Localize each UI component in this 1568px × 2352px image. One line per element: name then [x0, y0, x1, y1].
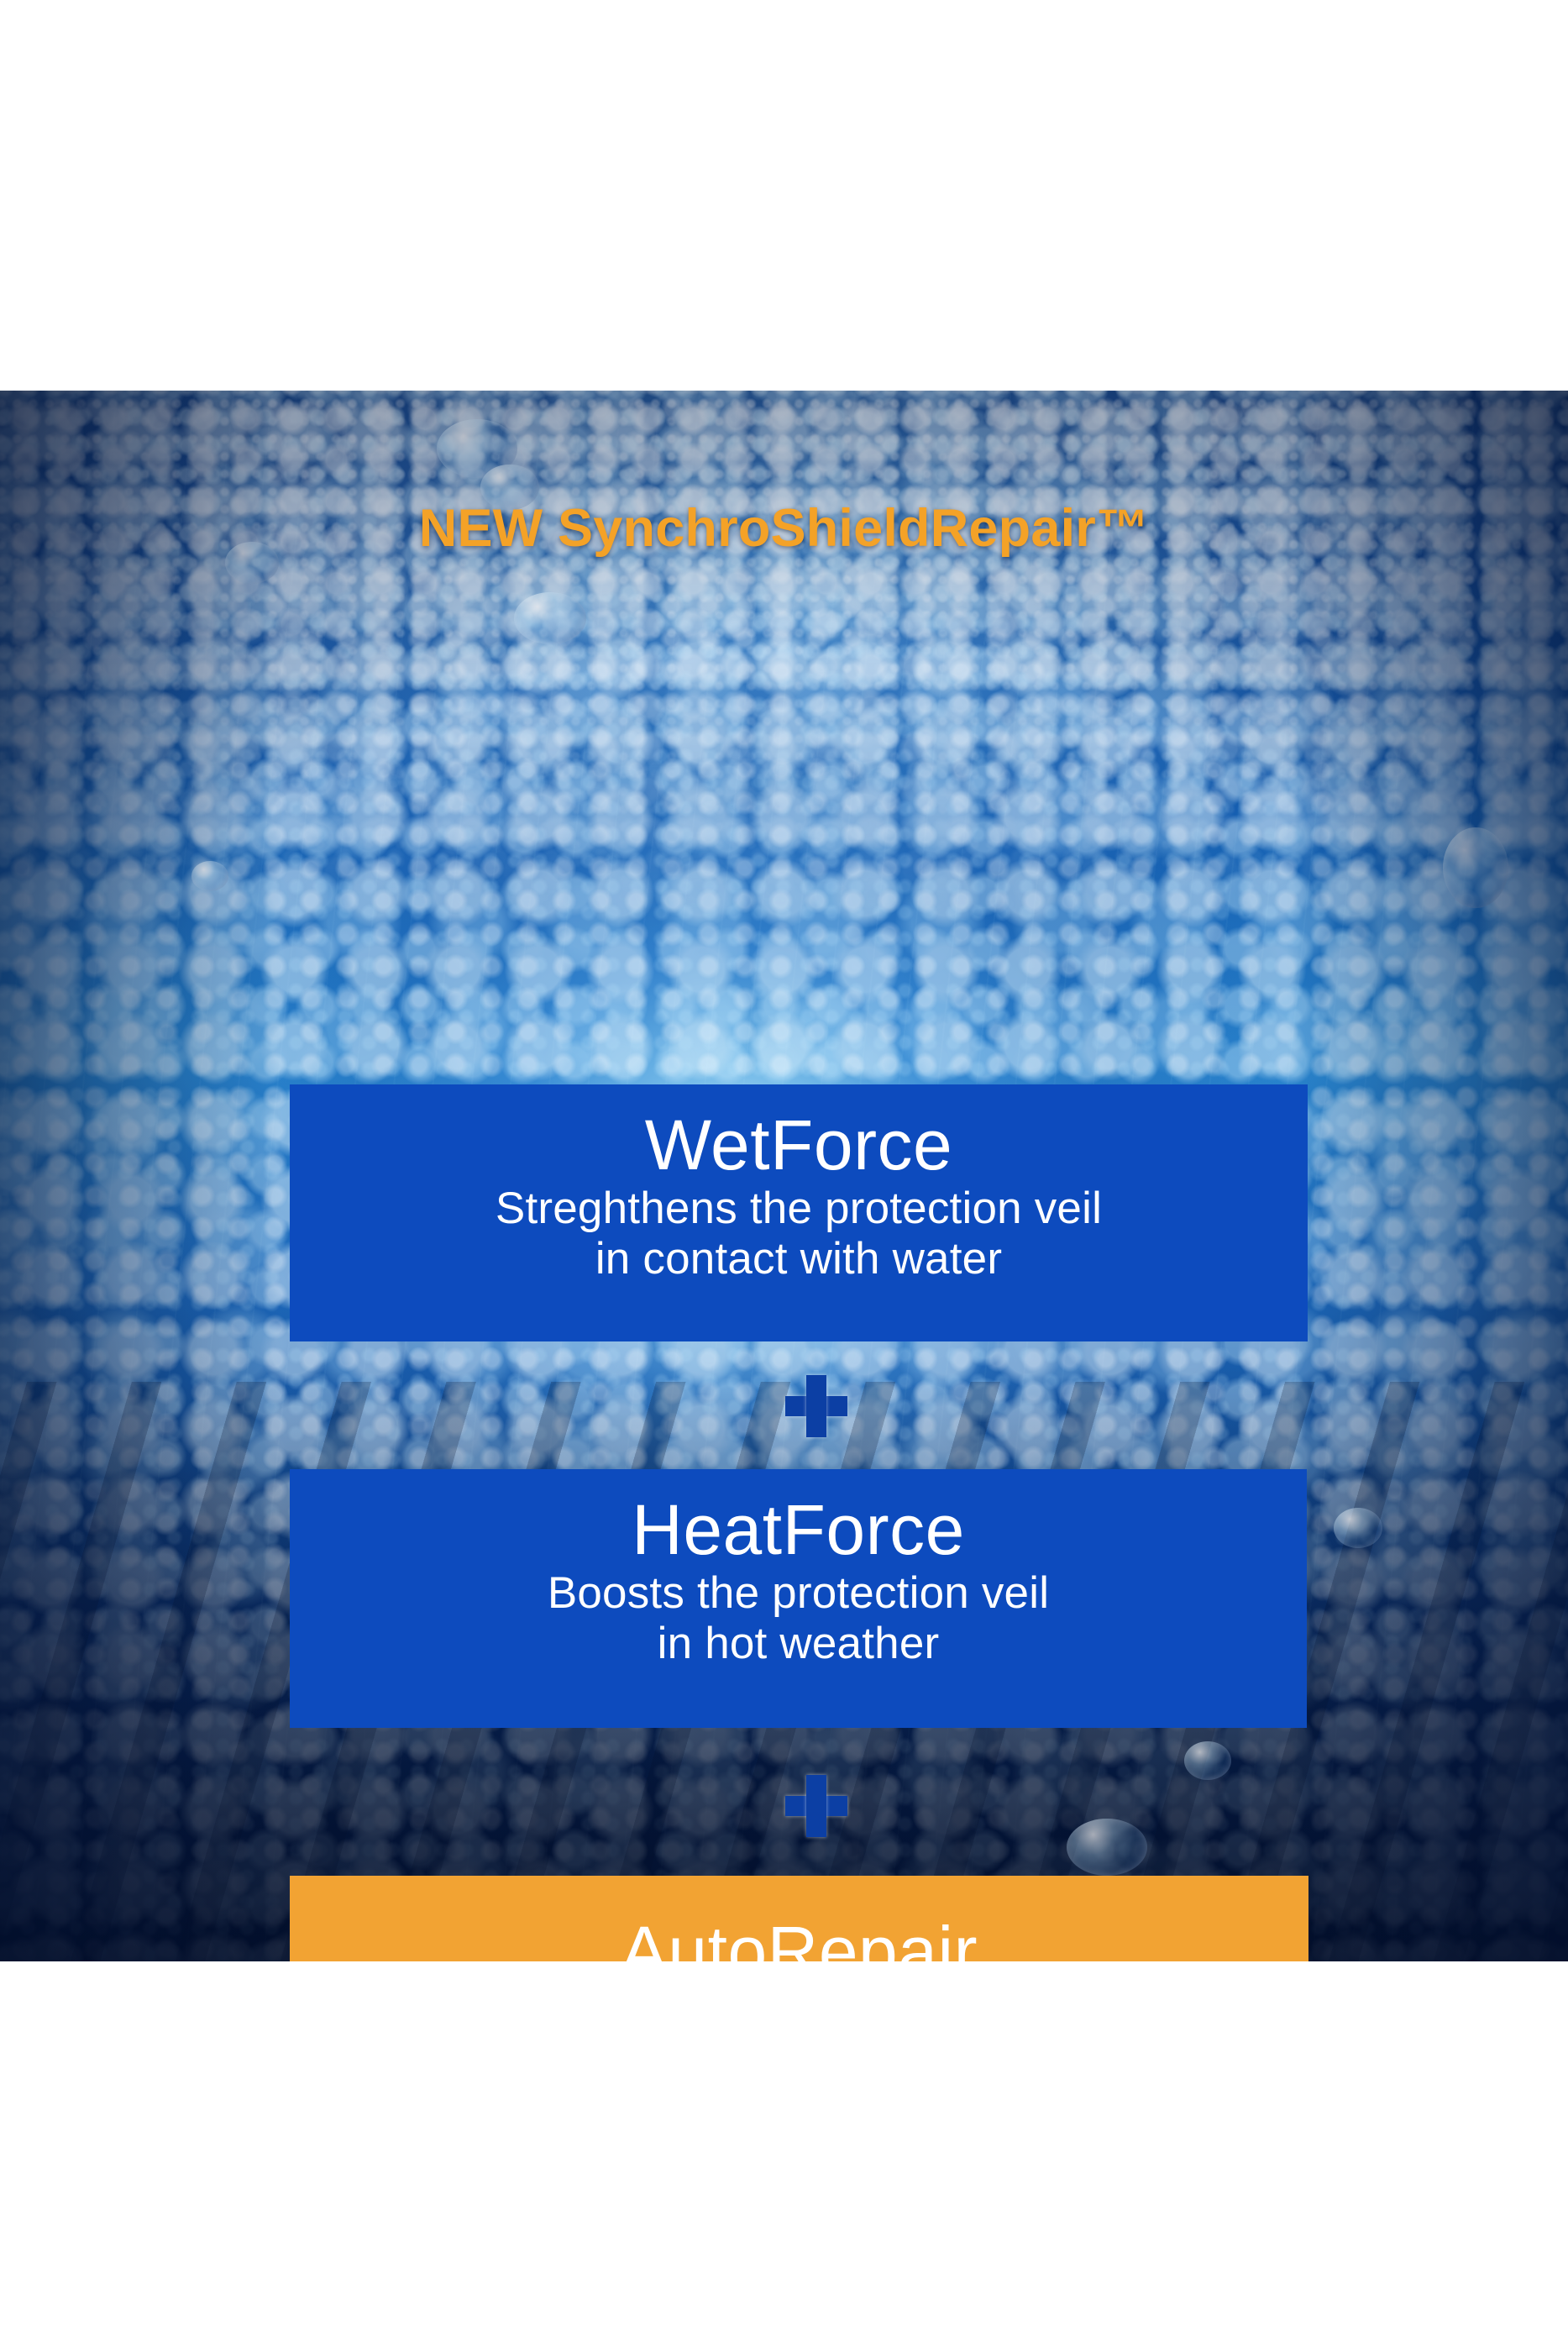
- feature-desc-wetforce-line1: Streghthens the protection veil: [290, 1185, 1308, 1233]
- feature-panel-autorepair[interactable]: AutoRepair The protection veil repairs i…: [290, 1876, 1308, 1961]
- poster-content: NEW SynchroShieldRepair™ WetForce Stregh…: [0, 391, 1568, 1961]
- feature-title-heatforce: HeatForce: [290, 1494, 1307, 1567]
- feature-title-autorepair: AutoRepair: [290, 1916, 1308, 1961]
- plus-icon-one: [785, 1375, 847, 1437]
- underwater-background-photo: NEW SynchroShieldRepair™ WetForce Stregh…: [0, 391, 1568, 1961]
- plus-icon-two: [785, 1775, 847, 1837]
- page-title: NEW SynchroShieldRepair™: [0, 498, 1568, 559]
- feature-title-wetforce: WetForce: [290, 1110, 1308, 1182]
- feature-desc-wetforce-line2: in contact with water: [290, 1236, 1308, 1284]
- feature-panel-heatforce[interactable]: HeatForce Boosts the protection veil in …: [290, 1469, 1307, 1728]
- feature-desc-heatforce-line1: Boosts the protection veil: [290, 1570, 1307, 1618]
- feature-desc-heatforce-line2: in hot weather: [290, 1620, 1307, 1668]
- feature-panel-wetforce[interactable]: WetForce Streghthens the protection veil…: [290, 1084, 1308, 1341]
